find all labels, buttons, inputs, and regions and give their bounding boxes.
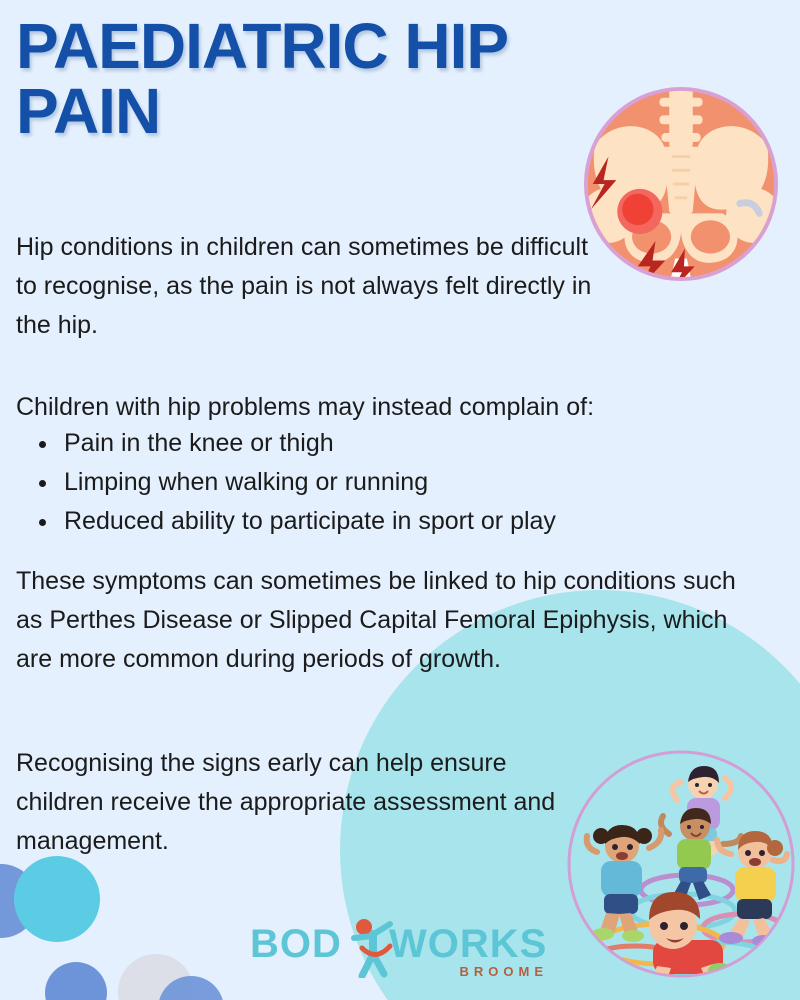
page-title: PAEDIATRIC HIP PAIN (16, 14, 636, 145)
list-lead-in-text: Children with hip problems may instead c… (16, 388, 756, 427)
list-item: Pain in the knee or thigh (60, 424, 556, 463)
brand-logo: BOD WORKS BROOME (0, 918, 800, 984)
closing-paragraph: Recognising the signs early can help ens… (16, 744, 576, 860)
logo-word-works: WORKS (389, 924, 547, 964)
conditions-paragraph: These symptoms can sometimes be linked t… (16, 562, 761, 678)
intro-paragraph: Hip conditions in children can sometimes… (16, 228, 596, 344)
list-item: Limping when walking or running (60, 463, 556, 502)
logo-subtitle: BROOME (460, 964, 549, 979)
pelvis-hip-pain-illustration (583, 86, 779, 282)
poster-canvas: PAEDIATRIC HIP PAIN (0, 0, 800, 1000)
list-item: Reduced ability to participate in sport … (60, 502, 556, 541)
logo-word-bod: BOD (250, 924, 342, 964)
symptom-list: Pain in the knee or thigh Limping when w… (34, 424, 556, 541)
